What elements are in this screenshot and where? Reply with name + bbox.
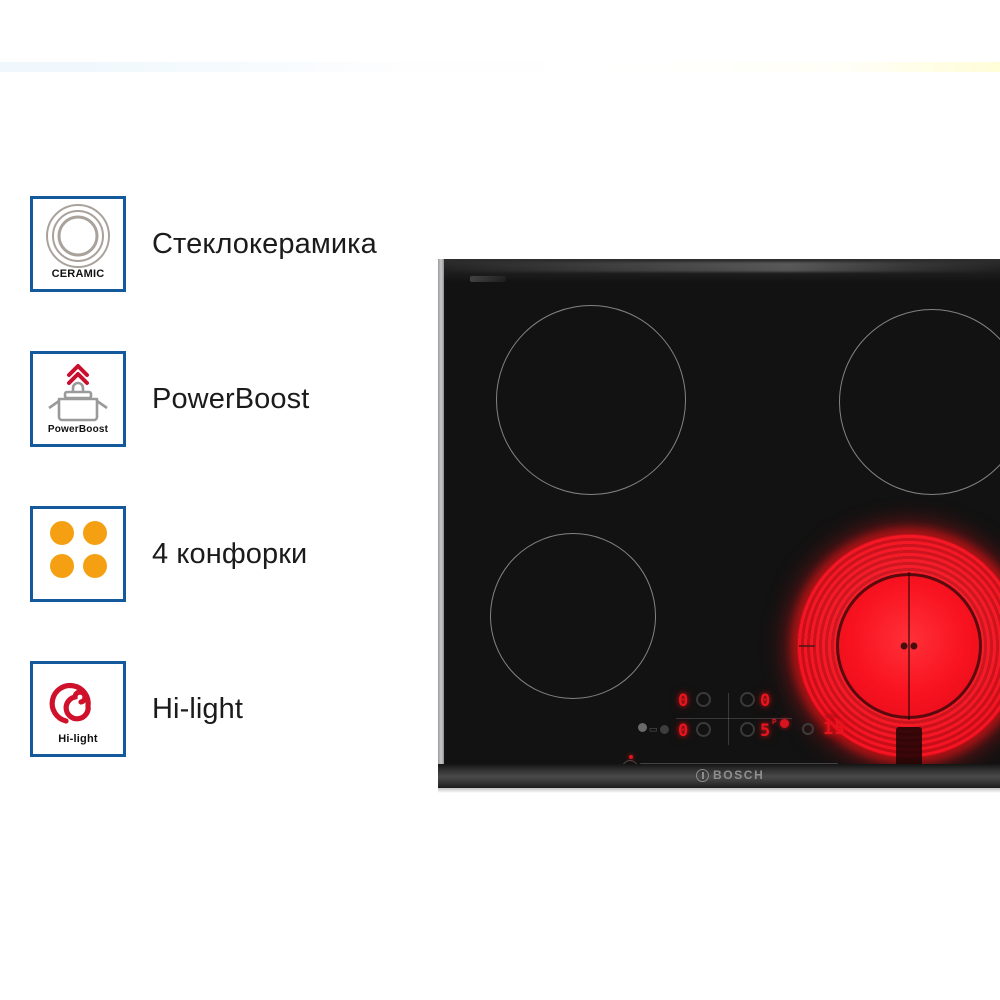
zone-display-front-right: 5 (760, 723, 771, 740)
feature-label-powerboost: PowerBoost (152, 351, 309, 447)
zone-key-rear-left[interactable] (696, 692, 711, 707)
bosch-mark (696, 769, 709, 782)
feature-label-hilight: Hi-light (152, 661, 243, 757)
badge-four-burners (30, 506, 126, 602)
zone-key-front-left[interactable] (696, 722, 711, 737)
badge-hilight: Hi-light (30, 661, 126, 757)
feature-row-burners: 4 конфорки (30, 506, 430, 661)
feature-row-powerboost: PowerBoost PowerBoost (30, 351, 430, 506)
cooktop-glass-surface: 0 0 0 5 P ▭ 15 min ⏻ (444, 259, 1000, 764)
powerboost-led (780, 719, 789, 728)
feature-row-hilight: Hi-light Hi-light (30, 661, 430, 816)
control-panel: 0 0 0 5 P ▭ 15 min (620, 691, 840, 757)
feature-label-ceramic: Стеклокерамика (152, 196, 377, 292)
feature-list: CERAMIC Стеклокерамика (30, 196, 430, 816)
feature-row-ceramic: CERAMIC Стеклокерамика (30, 196, 430, 351)
panel-divider-vertical (728, 693, 729, 745)
badge-powerboost: PowerBoost (30, 351, 126, 447)
ceramic-rings-icon (33, 199, 123, 269)
bosch-logo-icon: BOSCH (696, 768, 764, 782)
bezel-drop-shadow (438, 788, 1000, 793)
zone-key-front-right[interactable] (740, 722, 755, 737)
child-lock-label: ▭ (649, 725, 658, 734)
badge-caption-hilight: Hi-light (58, 734, 97, 754)
zone-display-rear-left: 0 (678, 693, 689, 710)
bosch-wordmark: BOSCH (713, 768, 764, 782)
child-lock-icon[interactable] (638, 723, 647, 732)
model-marking (470, 276, 506, 282)
badge-caption-powerboost: PowerBoost (48, 425, 108, 444)
cooking-zone-front-left[interactable] (490, 533, 656, 699)
coil-notch (799, 645, 815, 647)
cooktop-front-bezel: BOSCH (438, 764, 1000, 788)
timer-display: 15 (823, 721, 845, 738)
pot-with-boost-chevrons-icon (33, 354, 123, 425)
timer-key[interactable] (802, 723, 814, 735)
powerboost-indicator: P (772, 719, 777, 726)
cooking-zone-rear-right[interactable] (839, 309, 1000, 495)
timer-unit-label: min (825, 714, 837, 720)
coil-center-dot-left (901, 643, 908, 650)
badge-ceramic: CERAMIC (30, 196, 126, 292)
badge-caption-ceramic: CERAMIC (52, 269, 105, 289)
hi-light-spiral-icon (33, 664, 123, 734)
spiral-svg (48, 672, 108, 730)
cooking-zone-rear-left[interactable] (496, 305, 686, 495)
zone-display-rear-right: 0 (760, 693, 771, 710)
cooktop-product-image: 0 0 0 5 P ▭ 15 min ⏻ (438, 259, 1000, 794)
zone-key-rear-right[interactable] (740, 692, 755, 707)
pot-svg (43, 361, 113, 423)
glass-top-sheen (444, 262, 1000, 272)
feature-label-burners: 4 конфорки (152, 506, 307, 602)
front-left-indicator (660, 725, 669, 734)
zone-display-front-left: 0 (678, 723, 689, 740)
top-tint-band (0, 62, 1000, 72)
power-slider[interactable]: ⏻ 1· 2· 3· 4· 5· 6· 7· 8· 9 (622, 757, 838, 764)
coil-stem (896, 727, 922, 764)
power-led (629, 755, 633, 759)
coil-center-dot-right (910, 643, 917, 650)
four-burners-icon (33, 509, 123, 590)
